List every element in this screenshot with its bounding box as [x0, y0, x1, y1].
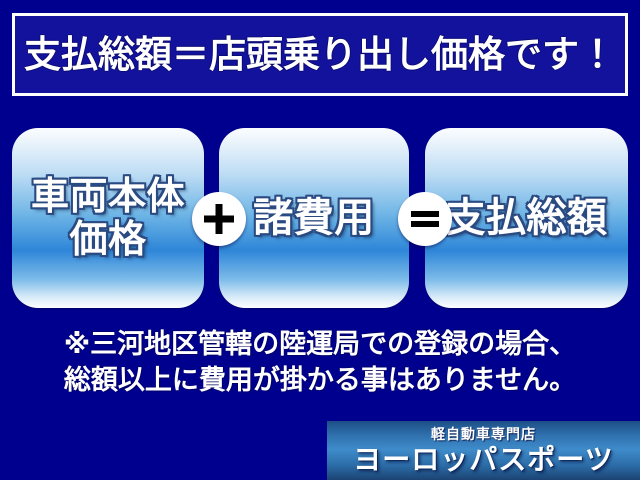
shop-branding-plate: 軽自動車専門店 ヨーロッパスポーツ: [327, 421, 640, 480]
header-box: 支払総額＝店頭乗り出し価格です！: [12, 13, 628, 96]
price-formula: 車両本体 価格 諸費用 支払総額: [0, 128, 640, 310]
footnote-line-2: 総額以上に費用が掛かる事はありません。: [0, 363, 640, 399]
footnote-line-1: ※三河地区管轄の陸運局での登録の場合、: [0, 327, 640, 363]
price-box-total: 支払総額: [425, 128, 628, 308]
equals-icon: [398, 192, 452, 246]
price-box-vehicle-body-label: 車両本体 価格: [31, 175, 185, 260]
vehicle-body-line1: 車両本体: [31, 174, 185, 218]
plus-icon: [192, 192, 246, 246]
shop-name: ヨーロッパスポーツ: [353, 446, 613, 474]
price-banner: 支払総額＝店頭乗り出し価格です！ 車両本体 価格 諸費用 支払総額: [0, 0, 640, 480]
shop-subtitle: 軽自動車専門店: [431, 428, 536, 442]
price-box-vehicle-body: 車両本体 価格: [12, 128, 204, 308]
vehicle-body-line2: 価格: [69, 217, 146, 261]
price-box-fees: 諸費用: [219, 128, 409, 308]
price-box-total-label: 支払総額: [446, 196, 608, 241]
footnote: ※三河地区管轄の陸運局での登録の場合、 総額以上に費用が掛かる事はありません。: [0, 327, 640, 399]
header-title: 支払総額＝店頭乗り出し価格です！: [24, 36, 616, 73]
price-box-fees-label: 諸費用: [253, 196, 375, 241]
